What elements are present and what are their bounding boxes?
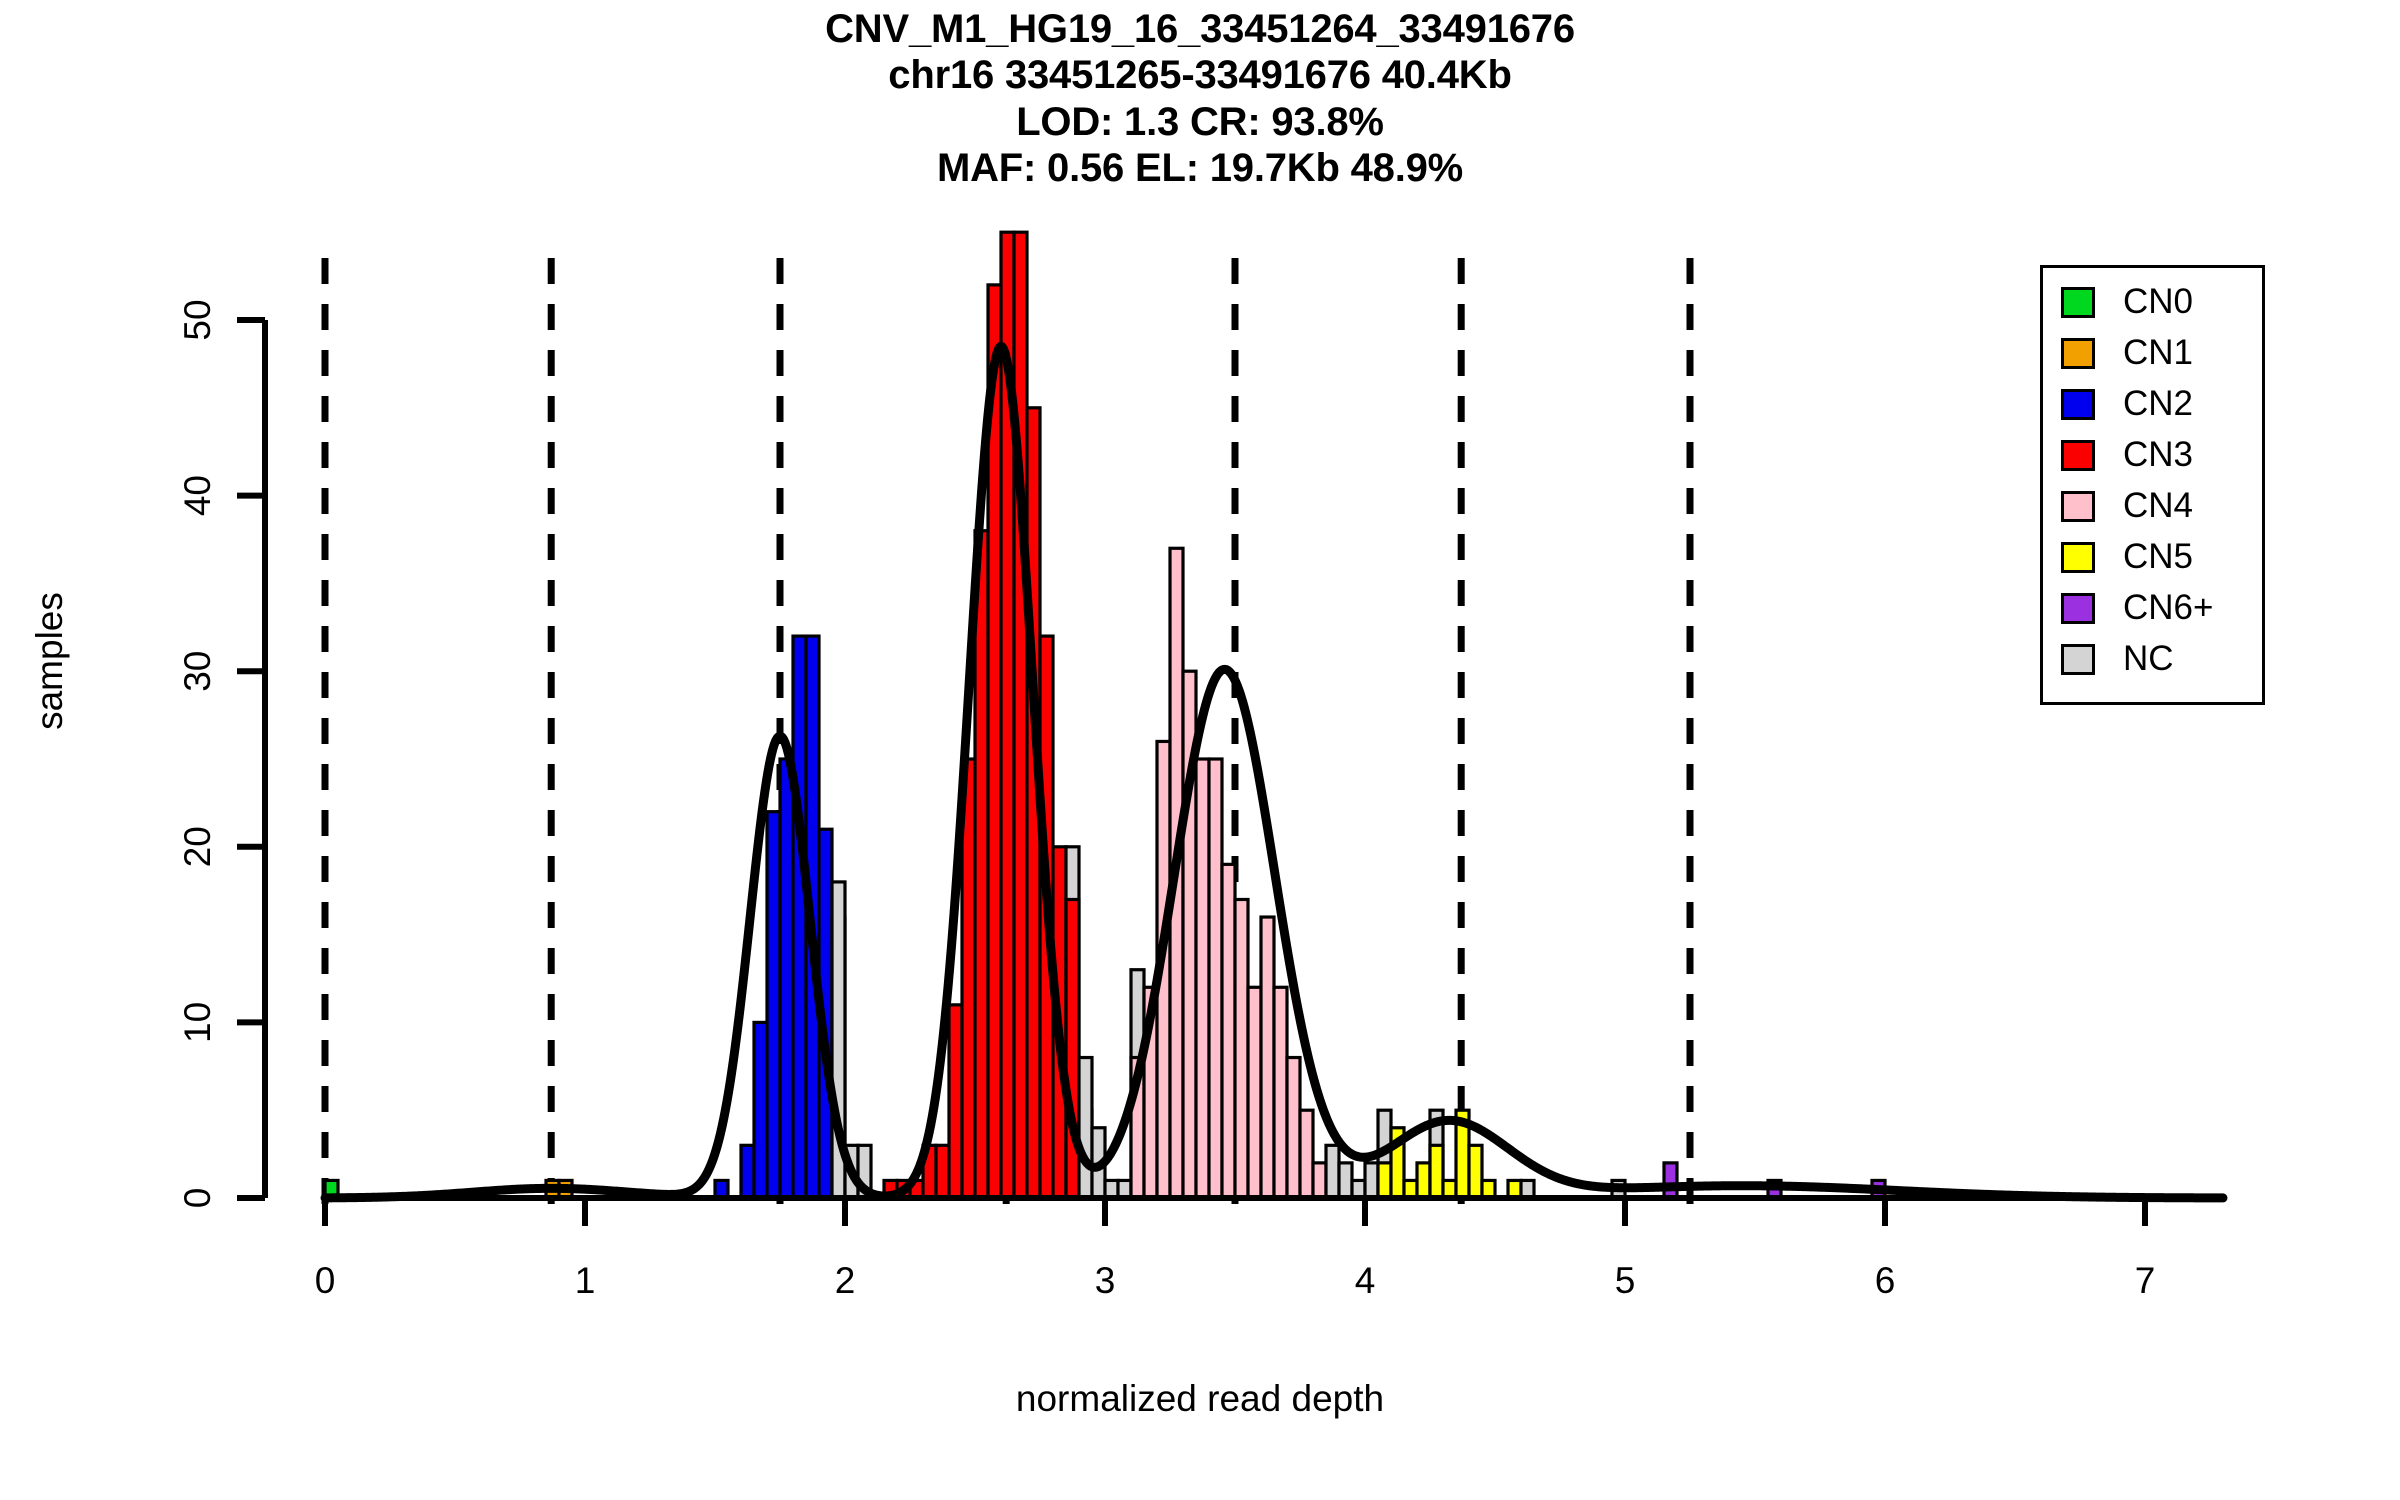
x-tick-label: 1 — [575, 1260, 596, 1301]
legend-swatch-icon — [2061, 593, 2095, 624]
histogram-bar — [1313, 1163, 1326, 1198]
legend-swatch-icon — [2061, 338, 2095, 369]
histogram-bar — [1664, 1163, 1677, 1198]
legend-swatch-icon — [2061, 287, 2095, 318]
histogram-bar — [1326, 1145, 1339, 1198]
x-tick-label: 6 — [1875, 1260, 1896, 1301]
histogram-bars — [325, 232, 1885, 1198]
legend-item-cn0[interactable]: CN0 — [2061, 282, 2193, 322]
x-tick-label: 4 — [1355, 1260, 1376, 1301]
y-tick-label: 20 — [177, 826, 218, 867]
y-tick-label: 0 — [177, 1188, 218, 1209]
legend-label: CN3 — [2123, 435, 2193, 475]
x-tick-label: 5 — [1615, 1260, 1636, 1301]
y-axis-label: samples — [29, 491, 71, 831]
legend-item-cn4[interactable]: CN4 — [2061, 486, 2193, 526]
legend-label: CN5 — [2123, 537, 2193, 577]
y-tick-label: 10 — [177, 1002, 218, 1043]
legend-swatch-icon — [2061, 491, 2095, 522]
legend-item-cn2[interactable]: CN2 — [2061, 384, 2193, 424]
histogram-bar — [1222, 864, 1235, 1198]
legend-label: CN6+ — [2123, 588, 2213, 628]
y-tick-label: 40 — [177, 475, 218, 516]
histogram-bar — [1209, 759, 1222, 1198]
histogram-bar — [1417, 1163, 1430, 1198]
legend-swatch-icon — [2061, 440, 2095, 471]
histogram-bar — [936, 1145, 949, 1198]
legend-item-cn5[interactable]: CN5 — [2061, 537, 2193, 577]
legend-item-nc[interactable]: NC — [2061, 639, 2174, 679]
legend-label: CN0 — [2123, 282, 2193, 322]
plot-canvas: 0123456701020304050 — [0, 0, 2400, 1500]
x-tick-label: 2 — [835, 1260, 856, 1301]
histogram-bar — [1014, 232, 1027, 1198]
histogram-bar — [1430, 1145, 1443, 1198]
legend-swatch-icon — [2061, 542, 2095, 573]
y-tick-label: 50 — [177, 299, 218, 340]
legend-label: CN1 — [2123, 333, 2193, 373]
histogram-bar — [1300, 1110, 1313, 1198]
x-tick-label: 0 — [315, 1260, 336, 1301]
histogram-bar — [793, 636, 806, 1198]
histogram-bar — [754, 1022, 767, 1198]
histogram-bar — [1287, 1058, 1300, 1198]
histogram-bar — [1079, 1058, 1092, 1198]
x-axis-label: normalized read depth — [0, 1378, 2400, 1420]
legend-item-cn6plus[interactable]: CN6+ — [2061, 588, 2213, 628]
histogram-bar — [1235, 899, 1248, 1198]
legend-item-cn3[interactable]: CN3 — [2061, 435, 2193, 475]
histogram-bar — [1378, 1163, 1391, 1198]
histogram-bar — [741, 1145, 754, 1198]
x-tick-label: 3 — [1095, 1260, 1116, 1301]
y-tick-label: 30 — [177, 651, 218, 692]
legend-label: CN4 — [2123, 486, 2193, 526]
histogram-bar — [1274, 987, 1287, 1198]
histogram-bar — [780, 759, 793, 1198]
cnv-histogram-plot: CNV_M1_HG19_16_33451264_33491676 chr16 3… — [0, 0, 2400, 1500]
histogram-bar — [1365, 1163, 1378, 1198]
legend-swatch-icon — [2061, 644, 2095, 675]
histogram-bar — [1469, 1145, 1482, 1198]
legend: CN0CN1CN2CN3CN4CN5CN6+NC — [2040, 265, 2265, 705]
legend-swatch-icon — [2061, 389, 2095, 420]
histogram-bar — [767, 812, 780, 1198]
histogram-bar — [949, 1005, 962, 1198]
legend-label: NC — [2123, 639, 2174, 679]
histogram-bar — [1339, 1163, 1352, 1198]
histogram-bar — [1196, 759, 1209, 1198]
histogram-bar — [1261, 917, 1274, 1198]
legend-item-cn1[interactable]: CN1 — [2061, 333, 2193, 373]
histogram-bar — [975, 531, 988, 1198]
histogram-bar — [1248, 987, 1261, 1198]
x-tick-label: 7 — [2135, 1260, 2156, 1301]
legend-label: CN2 — [2123, 384, 2193, 424]
